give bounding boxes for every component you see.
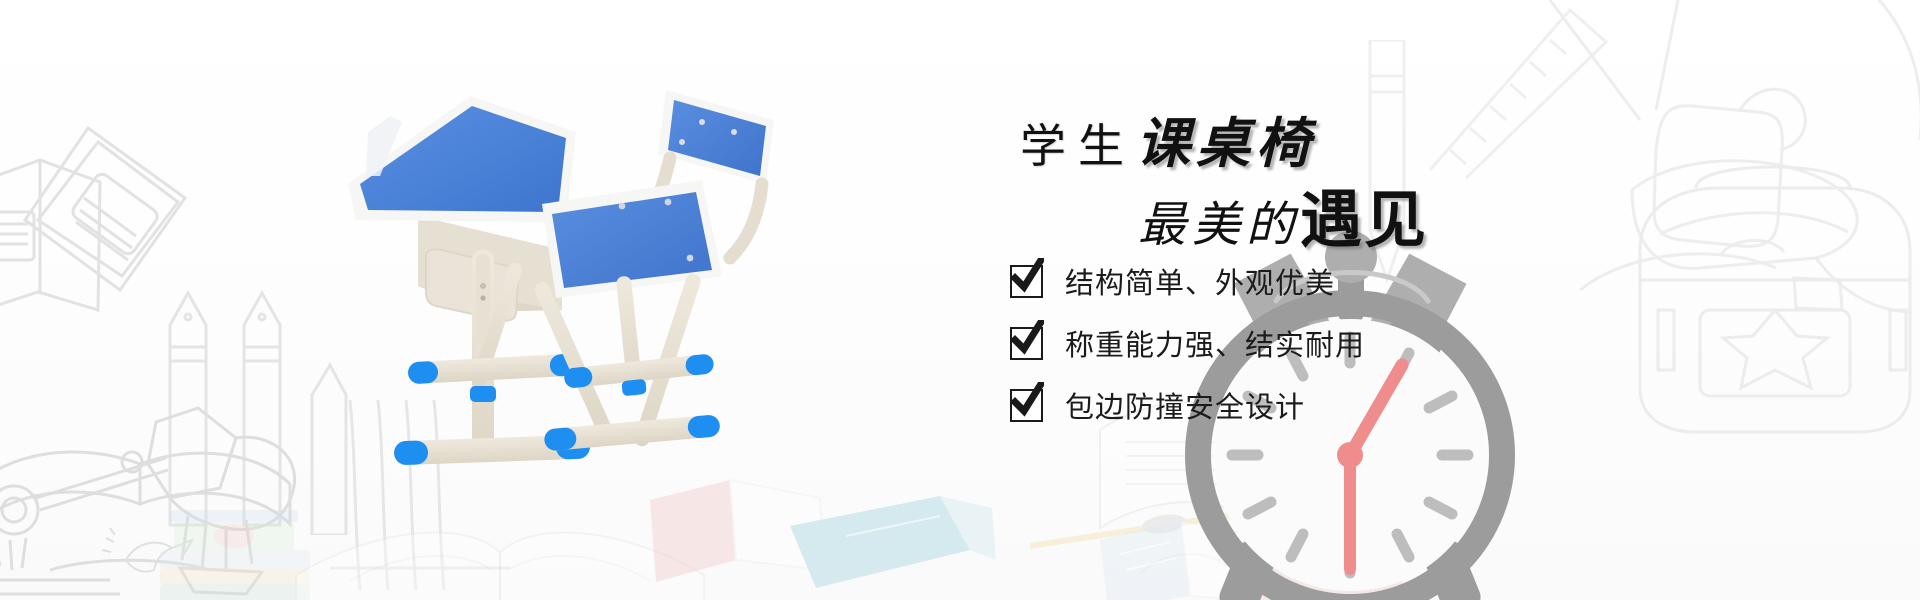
feature-item: 称重能力强、结实耐用	[1010, 322, 1365, 364]
satchel-line-art	[1600, 160, 1920, 460]
headline-line2-prefix: 最美的	[1138, 199, 1300, 252]
copy-block: 学生课桌椅 最美的遇见 结构简单、外观优美	[1010, 95, 1530, 245]
headline-line-1: 学生课桌椅	[1020, 99, 1316, 178]
headline-line2-emphasis: 遇见	[1300, 186, 1428, 255]
background-line-art	[0, 0, 1920, 600]
headline-line1-emphasis: 课桌椅	[1136, 114, 1316, 174]
promo-banner: 学生课桌椅 最美的遇见 结构简单、外观优美	[0, 0, 1920, 600]
feature-list: 结构简单、外观优美 称重能力强、结实耐用 包边防撞安全设计	[1010, 260, 1365, 446]
notebook-line-art	[0, 120, 260, 340]
feature-item: 包边防撞安全设计	[1010, 384, 1365, 426]
dove-line-art	[96, 520, 216, 590]
product-image-desk-chair	[330, 80, 800, 460]
feature-label: 结构简单、外观优美	[1065, 260, 1335, 302]
feature-label: 包边防撞安全设计	[1065, 384, 1305, 426]
backpack-line-art	[1540, 0, 1920, 320]
check-icon	[1010, 327, 1043, 360]
check-icon	[1010, 389, 1043, 422]
feature-label: 称重能力强、结实耐用	[1065, 322, 1365, 364]
bottom-books-prop	[1060, 500, 1480, 600]
pencil-line-art	[140, 285, 360, 535]
check-icon	[1010, 265, 1043, 298]
headline: 学生课桌椅 最美的遇见	[1010, 95, 1530, 245]
headline-line1-prefix: 学生	[1020, 121, 1136, 172]
feature-item: 结构简单、外观优美	[1010, 260, 1365, 302]
headline-line-2: 最美的遇见	[1138, 169, 1428, 259]
